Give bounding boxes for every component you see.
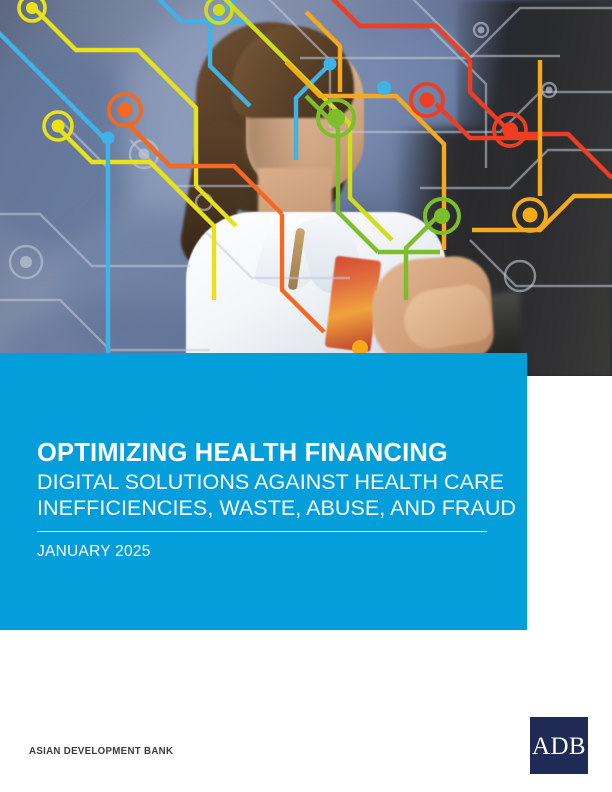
title-block: OPTIMIZING HEALTH FINANCING DIGITAL SOLU… xyxy=(37,439,489,562)
color-circuit-overlay xyxy=(0,0,612,376)
page-title: OPTIMIZING HEALTH FINANCING xyxy=(37,439,489,469)
cover-photo xyxy=(0,0,612,376)
circuit-path-yellowgreen xyxy=(218,0,392,240)
circuit-path-yellow xyxy=(34,8,236,300)
subtitle-line-2: INEFFICIENCIES, WASTE, ABUSE, AND FRAUD xyxy=(37,495,489,522)
circuit-path-red xyxy=(328,0,612,178)
organization-name: ASIAN DEVELOPMENT BANK xyxy=(29,746,173,757)
adb-logo-text: ADB xyxy=(530,734,588,759)
title-divider-rule xyxy=(37,531,487,532)
footer: ASIAN DEVELOPMENT BANK ADB xyxy=(0,630,612,792)
issue-date: JANUARY 2025 xyxy=(37,543,489,562)
subtitle-line-1: DIGITAL SOLUTIONS AGAINST HEALTH CARE xyxy=(37,469,489,496)
circuit-path-green xyxy=(306,96,440,300)
title-band: OPTIMIZING HEALTH FINANCING DIGITAL SOLU… xyxy=(0,353,527,630)
adb-logo: ADB xyxy=(530,717,588,774)
